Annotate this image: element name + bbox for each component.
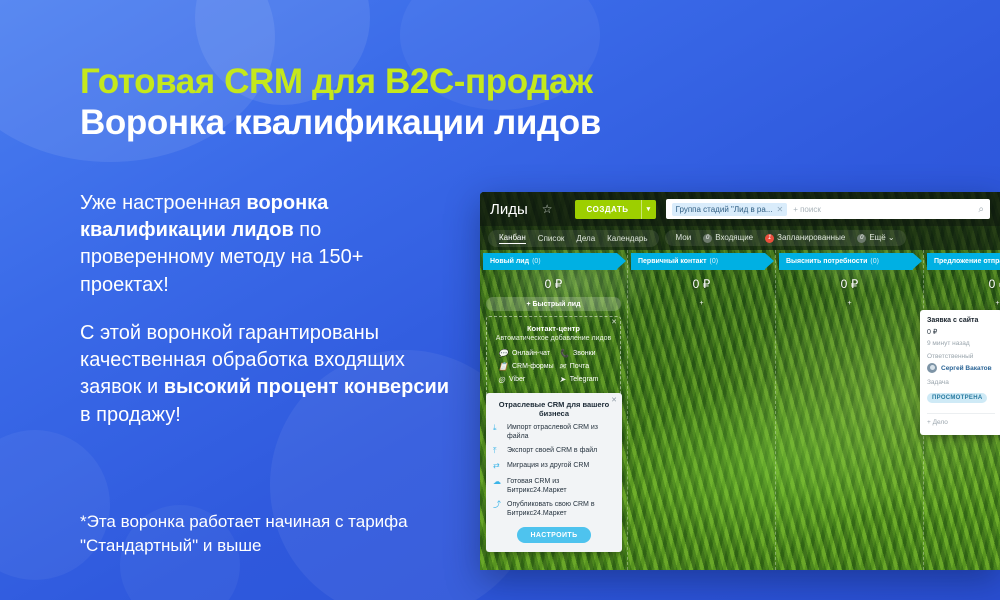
- filter-tab-planned[interactable]: 1Запланированные: [765, 233, 845, 242]
- contact-center-title: Контакт-центр: [492, 324, 615, 333]
- incoming-count: 0: [703, 234, 712, 243]
- chevron-down-icon[interactable]: ⌄: [888, 233, 895, 242]
- page-title: Готовая CRM для B2C-продаж Воронка квали…: [80, 62, 601, 144]
- channel-crm-forms[interactable]: 📋CRM-формы: [498, 362, 554, 371]
- tab-kanban[interactable]: Канбан: [499, 233, 526, 244]
- add-lead-button[interactable]: +: [776, 300, 923, 307]
- column-name: Предложение отправлено: [934, 258, 1000, 265]
- contact-center-channels: 💬Онлайн-чат 📞Звонки 📋CRM-формы ✉Почта ◎V…: [492, 349, 615, 384]
- telegram-icon: ➤: [559, 375, 566, 384]
- column-count: (0): [532, 258, 541, 265]
- kanban-column-needs: Выяснить потребности (0) 0 ₽ +: [776, 250, 924, 570]
- export-icon: ⤒: [493, 446, 502, 456]
- planned-count: 1: [765, 234, 774, 243]
- view-tabs-group: Канбан Список Дела Календарь: [488, 230, 659, 247]
- column-header[interactable]: Предложение отправлено (0): [927, 253, 1000, 270]
- column-count: (0): [870, 258, 879, 265]
- filter-tab-planned-label: Запланированные: [777, 233, 845, 242]
- industry-item-label: Миграция из другой CRM: [507, 461, 589, 470]
- lead-card[interactable]: Заявка с сайта 0 ₽ 9 минут назад Ответст…: [920, 310, 1000, 435]
- channel-label: Онлайн-чат: [512, 350, 550, 357]
- column-count: (0): [710, 258, 719, 265]
- responsible-label: Ответственный: [927, 353, 995, 360]
- status-badge: ПРОСМОТРЕНА: [927, 393, 987, 403]
- paragraph-2-highlight: высокий процент конверсии: [164, 376, 449, 398]
- channel-label: Viber: [509, 376, 525, 383]
- tab-calendar[interactable]: Календарь: [607, 234, 647, 243]
- lead-card-title: Заявка с сайта: [927, 317, 995, 324]
- task-label: Задача: [927, 379, 995, 386]
- search-placeholder: + поиск: [793, 205, 821, 214]
- industry-crm-panel: ✕ Отраслевые CRM для вашего бизнеса ⤓Имп…: [486, 393, 622, 552]
- configure-button[interactable]: НАСТРОИТЬ: [517, 527, 591, 543]
- tab-deals[interactable]: Дела: [576, 234, 595, 243]
- cloud-icon: ☁: [493, 477, 502, 487]
- chat-icon: 💬: [498, 349, 508, 358]
- kanban-column-new-lead: Новый лид (0) 0 ₽ + Быстрый лид ✕ Контак…: [480, 250, 628, 570]
- filter-chip-label: Группа стадий "Лид в ра...: [676, 205, 773, 214]
- channel-telegram[interactable]: ➤Telegram: [559, 375, 599, 384]
- more-count: 0: [857, 234, 866, 243]
- industry-item-label: Готовая CRM из Битрикс24.Маркет: [507, 477, 615, 495]
- paragraph-1: Уже настроенная воронка квалификации лид…: [80, 190, 455, 299]
- crm-screenshot: Лиды ☆ СОЗДАТЬ ▾ Группа стадий "Лид в ра…: [480, 192, 1000, 570]
- close-icon[interactable]: ✕: [611, 318, 617, 326]
- column-header[interactable]: Новый лид (0): [483, 253, 617, 270]
- add-lead-button[interactable]: +: [628, 300, 775, 307]
- filter-tab-more-label: Ещё: [869, 233, 885, 242]
- avatar-icon: [927, 363, 937, 373]
- channel-calls[interactable]: 📞Звонки: [559, 349, 596, 358]
- industry-item-label: Экспорт своей CRM в файл: [507, 446, 597, 455]
- industry-item-export[interactable]: ⤒Экспорт своей CRM в файл: [493, 446, 615, 456]
- tab-list[interactable]: Список: [538, 234, 565, 243]
- mail-icon: ✉: [559, 362, 566, 371]
- column-sum: 0 ₽: [628, 277, 775, 291]
- filter-tab-incoming[interactable]: 0Входящие: [703, 233, 753, 242]
- migrate-icon: ⇄: [493, 461, 502, 471]
- column-name: Выяснить потребности: [786, 258, 867, 265]
- industry-item-publish[interactable]: ⤴Опубликовать свою CRM в Битрикс24.Марке…: [493, 500, 615, 518]
- channel-label: Telegram: [570, 376, 599, 383]
- column-header[interactable]: Выяснить потребности (0): [779, 253, 913, 270]
- channel-label: CRM-формы: [512, 363, 554, 370]
- industry-item-migrate[interactable]: ⇄Миграция из другой CRM: [493, 461, 615, 471]
- column-name: Первичный контакт: [638, 258, 707, 265]
- industry-item-label: Опубликовать свою CRM в Битрикс24.Маркет: [507, 500, 615, 518]
- kanban-column-first-contact: Первичный контакт (0) 0 ₽ +: [628, 250, 776, 570]
- crm-toolbar: Лиды ☆ СОЗДАТЬ ▾ Группа стадий "Лид в ра…: [480, 192, 1000, 226]
- close-icon[interactable]: ✕: [777, 205, 784, 214]
- add-activity-button[interactable]: + Дело: [927, 413, 995, 426]
- contact-center-subtitle: Автоматическое добавление лидов: [492, 335, 615, 342]
- channel-label: Звонки: [573, 350, 596, 357]
- quick-lead-button[interactable]: + Быстрый лид: [486, 297, 621, 311]
- column-sum: 0 ₽: [480, 277, 627, 291]
- filter-tab-more[interactable]: 0Ещё ⌄: [857, 233, 894, 242]
- responsible-user[interactable]: Сергей Вакатов: [927, 363, 995, 373]
- industry-item-market[interactable]: ☁Готовая CRM из Битрикс24.Маркет: [493, 477, 615, 495]
- crm-page-title: Лиды: [490, 201, 528, 218]
- filter-chip[interactable]: Группа стадий "Лид в ра... ✕: [672, 203, 788, 216]
- column-header[interactable]: Первичный контакт (0): [631, 253, 765, 270]
- close-icon[interactable]: ✕: [611, 396, 617, 404]
- search-icon[interactable]: ⌕: [978, 204, 984, 215]
- column-sum: 0 ₽: [924, 277, 1000, 291]
- headline-line-2: Воронка квалификации лидов: [80, 103, 601, 144]
- headline-line-1: Готовая CRM для B2C-продаж: [80, 62, 601, 103]
- search-input[interactable]: Группа стадий "Лид в ра... ✕ + поиск ⌕: [666, 199, 990, 219]
- share-icon: ⤴: [493, 500, 502, 510]
- phone-icon: 📞: [559, 349, 569, 358]
- channel-label: Почта: [570, 363, 589, 370]
- paragraph-2-part-c: в продажу!: [80, 404, 181, 426]
- channel-mail[interactable]: ✉Почта: [559, 362, 589, 371]
- create-button[interactable]: СОЗДАТЬ ▾: [575, 200, 656, 219]
- chevron-down-icon[interactable]: ▾: [641, 200, 656, 219]
- star-icon[interactable]: ☆: [542, 202, 553, 216]
- footnote: *Эта воронка работает начиная с тарифа "…: [80, 510, 455, 558]
- filter-tab-incoming-label: Входящие: [715, 233, 753, 242]
- paragraph-1-part-a: Уже настроенная: [80, 192, 246, 214]
- add-lead-button[interactable]: +: [924, 300, 1000, 307]
- channel-online-chat[interactable]: 💬Онлайн-чат: [498, 349, 550, 358]
- industry-item-import[interactable]: ⤓Импорт отраслевой CRM из файла: [493, 423, 615, 441]
- filter-tab-mine[interactable]: Мои: [676, 233, 692, 242]
- crm-tabs-bar: Канбан Список Дела Календарь Мои 0Входящ…: [480, 226, 1000, 250]
- industry-item-label: Импорт отраслевой CRM из файла: [507, 423, 615, 441]
- import-icon: ⤓: [493, 423, 502, 433]
- viber-icon: ◎: [498, 375, 505, 384]
- lead-card-time: 9 минут назад: [927, 340, 995, 347]
- create-button-label: СОЗДАТЬ: [575, 205, 641, 214]
- responsible-name: Сергей Вакатов: [941, 365, 992, 372]
- column-sum: 0 ₽: [776, 277, 923, 291]
- column-name: Новый лид: [490, 258, 529, 265]
- filter-tabs-group: Мои 0Входящие 1Запланированные 0Ещё ⌄: [665, 230, 906, 245]
- lead-card-amount: 0 ₽: [927, 328, 995, 336]
- paragraph-2: С этой воронкой гарантированы качественн…: [80, 320, 455, 429]
- industry-panel-title: Отраслевые CRM для вашего бизнеса: [493, 400, 615, 418]
- form-icon: 📋: [498, 362, 508, 371]
- channel-viber[interactable]: ◎Viber: [498, 375, 525, 384]
